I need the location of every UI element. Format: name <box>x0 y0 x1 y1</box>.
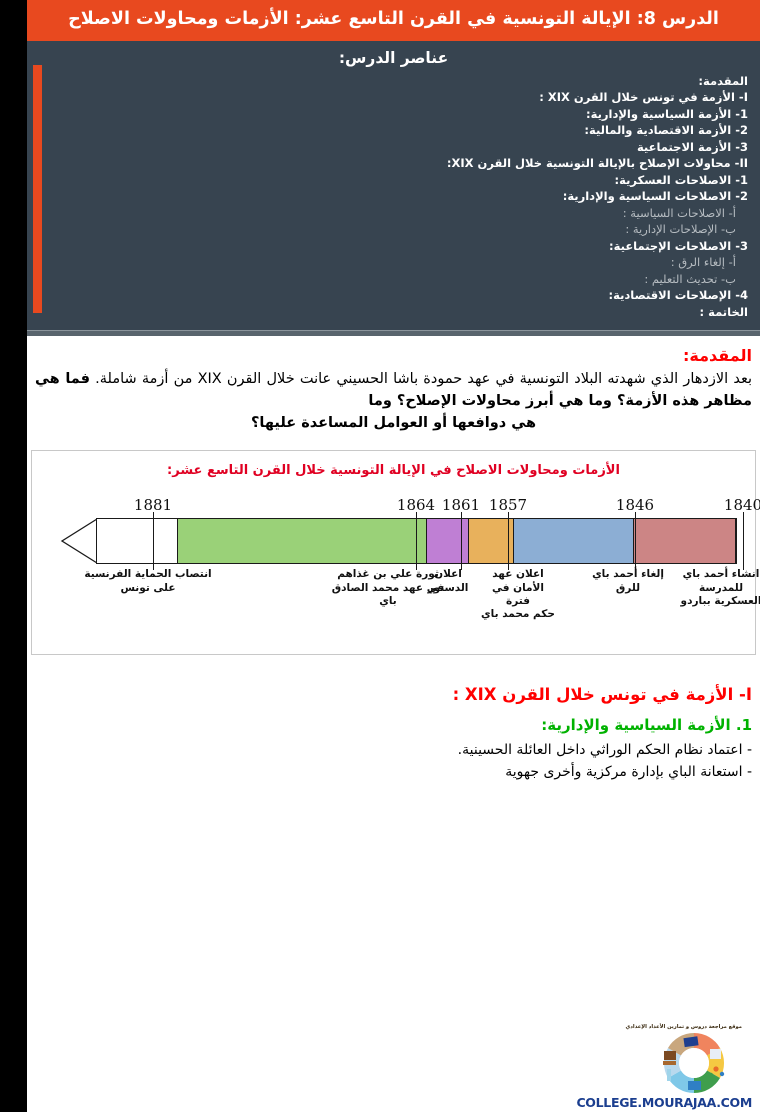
outline-item-2-2-a: أ- الاصلاحات السياسية : <box>39 205 748 222</box>
page-footer: موقع مراجعة دروس و تمارين الأعداد الإعدا… <box>27 1020 760 1112</box>
outline-item-1-2: 2- الأزمة الاقتصادية والمالية: <box>39 122 748 139</box>
outline-item-muqaddima: المقدمة: <box>39 73 748 90</box>
outline-scrollbar[interactable] <box>33 65 42 313</box>
outline-item-khatima: الخاتمة : <box>39 304 748 321</box>
timeline-event-1840-line2: للمدرسة <box>677 582 760 595</box>
timeline-tick-1846 <box>635 512 636 570</box>
section-one-bullet-2: - استعانة الباي بإدارة مركزية وأخرى جهوي… <box>35 762 752 784</box>
timeline-event-1881-line1: انتصاب الحماية الفرنسية <box>83 568 213 581</box>
outline-item-part2: II- محاولات الإصلاح بالإيالة التونسية خل… <box>39 155 748 172</box>
lesson-title-banner: الدرس 8: الإيالة التونسية في القرن التاس… <box>27 0 760 41</box>
outline-item-2-4: 4- الإصلاحات الاقتصادية: <box>39 287 748 304</box>
introduction-question-2: هي دوافعها أو العوامل المساعدة عليها؟ <box>35 413 752 435</box>
timeline-tick-1881 <box>153 512 154 570</box>
introduction-heading: المقدمة: <box>35 346 752 365</box>
outline-item-2-3-b: ب- تحديث التعليم : <box>39 271 748 288</box>
timeline-event-1840: انشاء أحمد باي للمدرسة العسكرية بباردو <box>677 568 760 607</box>
timeline-canvas: 1881 1864 1861 1857 1846 1840 <box>38 494 749 644</box>
lesson-outline-panel: عناصر الدرس: المقدمة: I- الأزمة في تونس … <box>27 41 760 331</box>
timeline-event-1861-line2: الدستور <box>424 582 472 595</box>
outline-item-2-2: 2- الاصلاحات السياسية والإدارية: <box>39 188 748 205</box>
timeline-tick-1861 <box>461 512 462 570</box>
section-one-bullet-1: - اعتماد نظام الحكم الوراثي داخل العائلة… <box>35 740 752 762</box>
section-one: I- الأزمة في تونس خلال القرن XIX : 1. ال… <box>27 665 760 783</box>
outline-heading: عناصر الدرس: <box>37 49 750 67</box>
section-one-heading: I- الأزمة في تونس خلال القرن XIX : <box>35 685 752 704</box>
timeline-event-1857-line3: حكم محمد باي <box>481 608 555 621</box>
timeline-event-1861-line1: اعلان <box>424 568 472 581</box>
outline-item-1-1: 1- الأزمة السياسية والإدارية: <box>39 106 748 123</box>
outline-list: المقدمة: I- الأزمة في تونس خلال القرن XI… <box>37 73 750 321</box>
timeline-title: الأزمات ومحاولات الاصلاح في الإيالة التو… <box>38 463 749 478</box>
introduction-paragraph: بعد الازدهار الذي شهدته البلاد التونسية … <box>95 371 752 387</box>
timeline-tick-1864 <box>416 512 417 570</box>
timeline-event-1840-line1: انشاء أحمد باي <box>677 568 760 581</box>
timeline-tick-1840 <box>743 512 744 570</box>
timeline-tick-1857 <box>508 512 509 570</box>
introduction-section: المقدمة: بعد الازدهار الذي شهدته البلاد … <box>27 336 760 438</box>
timeline-event-labels: انتصاب الحماية الفرنسية على تونس ثورة عل… <box>38 568 749 630</box>
logo-wheel-icon <box>646 1030 742 1096</box>
document-page: الدرس 8: الإيالة التونسية في القرن التاس… <box>27 0 760 1112</box>
timeline-event-1861: اعلان الدستور <box>424 568 472 594</box>
timeline-event-1846-line2: للرق <box>592 582 664 595</box>
outline-item-2-3-a: أ- إلغاء الرق : <box>39 254 748 271</box>
site-watermark-text: COLLEGE.MOURAJAA.COM <box>576 1095 752 1110</box>
timeline-event-1846: إلغاء أحمد باي للرق <box>592 568 664 594</box>
outline-item-part1: I- الأزمة في تونس خلال القرن XIX : <box>39 89 748 106</box>
timeline-year-labels: 1881 1864 1861 1857 1846 1840 <box>38 494 749 514</box>
timeline-event-1840-line3: العسكرية بباردو <box>677 595 760 608</box>
section-one-subheading: 1. الأزمة السياسية والإدارية: <box>35 716 752 734</box>
timeline-figure: الأزمات ومحاولات الاصلاح في الإيالة التو… <box>31 450 756 655</box>
timeline-ticks <box>38 512 749 570</box>
timeline-event-1881-line2: على تونس <box>83 582 213 595</box>
outline-item-2-1: 1- الاصلاحات العسكرية: <box>39 172 748 189</box>
timeline-event-1881: انتصاب الحماية الفرنسية على تونس <box>83 568 213 594</box>
outline-item-2-2-b: ب- الإصلاحات الإدارية : <box>39 221 748 238</box>
timeline-event-1857: اعلان عهد الأمان في فترة حكم محمد باي <box>481 568 555 621</box>
introduction-body: بعد الازدهار الذي شهدته البلاد التونسية … <box>35 369 752 434</box>
timeline-event-1846-line1: إلغاء أحمد باي <box>592 568 664 581</box>
timeline-event-1857-line1: اعلان عهد <box>481 568 555 581</box>
timeline-event-1857-line2: الأمان في فترة <box>481 582 555 608</box>
site-logo: موقع مراجعة دروس و تمارين الأعداد الإعدا… <box>646 1024 742 1090</box>
outline-item-2-3: 3- الاصلاحات الإجتماعية: <box>39 238 748 255</box>
outline-item-1-3: 3- الأزمة الاجتماعية <box>39 139 748 156</box>
